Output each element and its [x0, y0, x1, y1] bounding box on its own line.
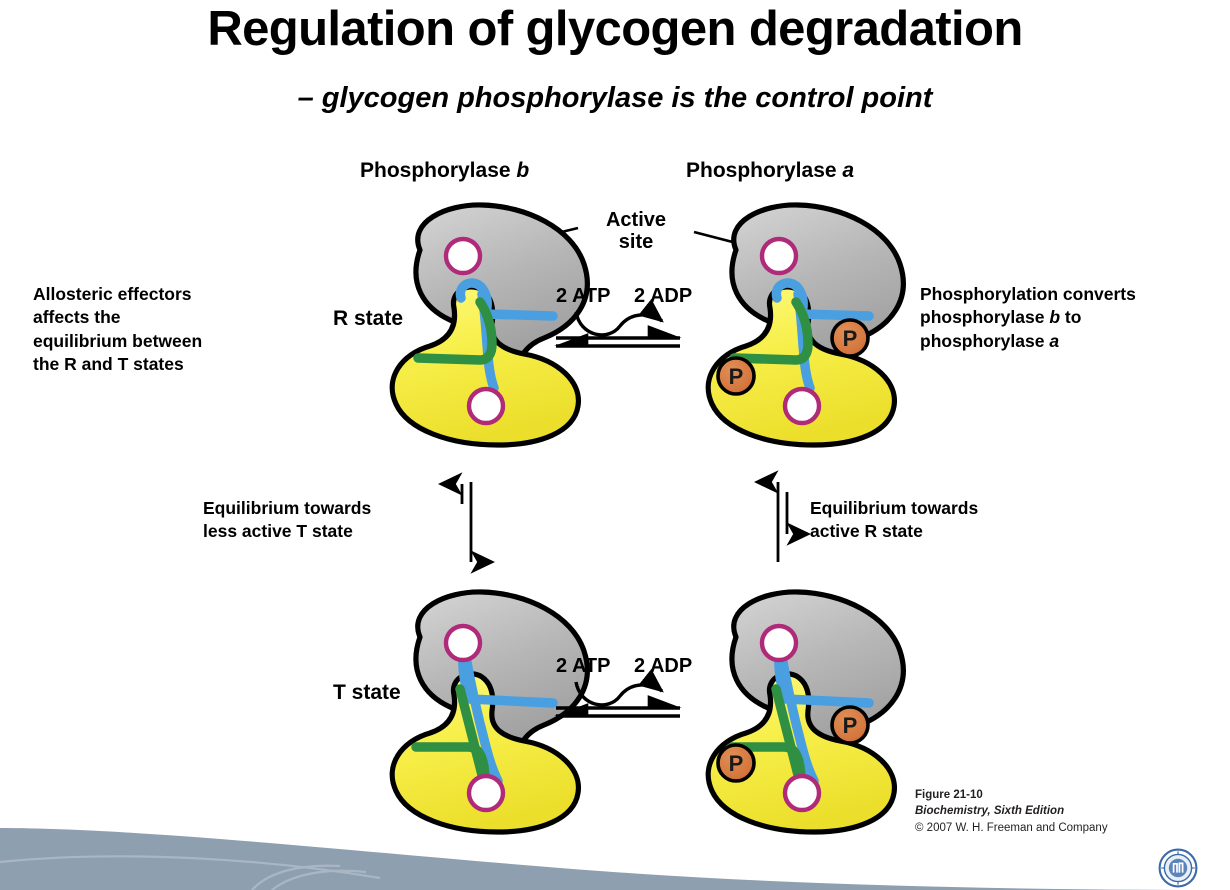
- footer-banner: [0, 806, 1230, 890]
- active-site-leader-lines: [0, 0, 1230, 890]
- equilibrium-arrow-right: [768, 478, 808, 576]
- seal-center-disc: [1169, 859, 1187, 877]
- structure-phosphorylase-a-t-state: P P: [674, 585, 924, 835]
- reaction-arrow-top: [552, 310, 692, 355]
- equilibrium-arrow-left: [452, 478, 492, 576]
- active-site-circle-gray: [762, 239, 796, 273]
- phosphate-badge-lower: P: [718, 745, 754, 781]
- phosphate-badge-upper: P: [832, 320, 868, 356]
- active-site-circle-gray: [446, 626, 480, 660]
- credit-figure-number: Figure 21-10: [915, 787, 1108, 803]
- phosphate-badge-upper: P: [832, 707, 868, 743]
- structure-phosphorylase-a-r-state: P P: [674, 198, 924, 448]
- equilibrium-left-line1: Equilibrium towards: [203, 497, 371, 520]
- reaction-curve-top: [576, 312, 662, 335]
- phosphate-badge-lower-label: P: [729, 751, 744, 776]
- phosphate-badge-lower-label: P: [729, 364, 744, 389]
- equilibrium-right-line2: active R state: [810, 520, 978, 543]
- university-seal-logo: [1158, 848, 1198, 888]
- reaction-top-product: 2 ADP: [634, 285, 692, 308]
- active-site-circle-yellow: [469, 389, 503, 423]
- reaction-top-substrate: 2 ATP: [556, 285, 610, 308]
- phosphate-badge-upper-label: P: [843, 326, 858, 351]
- equilibrium-right-line1: Equilibrium towards: [810, 497, 978, 520]
- active-site-circle-yellow: [785, 389, 819, 423]
- reaction-arrow-bottom: [552, 680, 692, 725]
- active-site-circle-gray: [762, 626, 796, 660]
- active-site-circle-yellow: [785, 776, 819, 810]
- equilibrium-label-right: Equilibrium towards active R state: [810, 497, 978, 544]
- equilibrium-left-line2: less active T state: [203, 520, 371, 543]
- active-site-circle-yellow: [469, 776, 503, 810]
- reaction-bottom-product: 2 ADP: [634, 655, 692, 678]
- footer-banner-shape: [0, 828, 1230, 890]
- equilibrium-label-left: Equilibrium towards less active T state: [203, 497, 371, 544]
- slide-canvas: Regulation of glycogen degradation – gly…: [0, 0, 1230, 890]
- phosphate-badge-upper-label: P: [843, 713, 858, 738]
- reaction-bottom-substrate: 2 ATP: [556, 655, 610, 678]
- phosphate-badge-lower: P: [718, 358, 754, 394]
- active-site-circle-gray: [446, 239, 480, 273]
- reaction-curve-bottom: [576, 682, 662, 705]
